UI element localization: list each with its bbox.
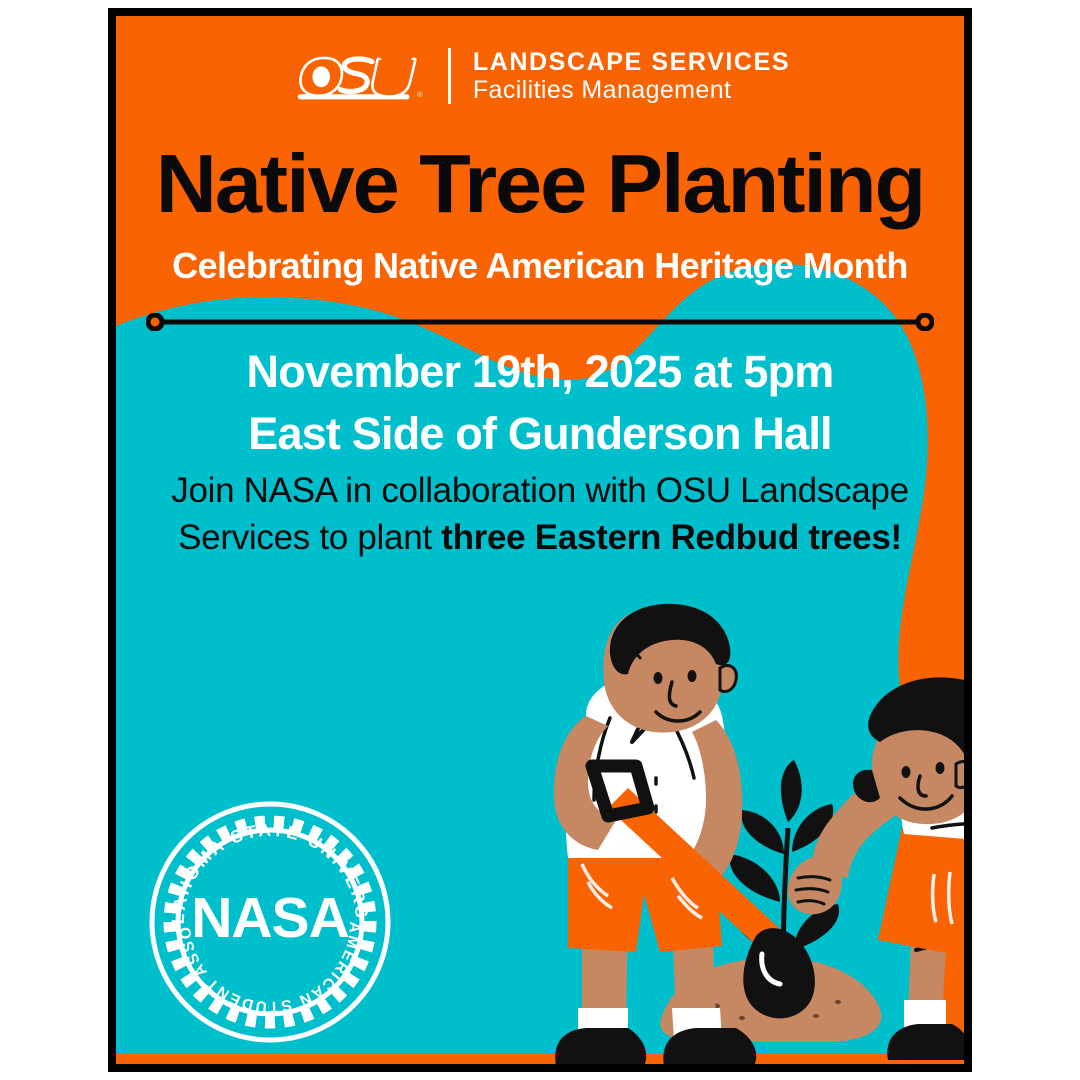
poster-body: ® LANDSCAPE SERVICES Facilities Manageme…	[116, 16, 964, 1064]
boy-right-shoe	[663, 1028, 756, 1064]
girl-ear	[956, 762, 964, 788]
seal-center-wordmark: NASA	[191, 886, 349, 950]
boy-left-shoe	[555, 1028, 646, 1064]
girl-skirt	[878, 822, 964, 956]
girl-left-shoe	[887, 1024, 964, 1060]
nasa-seal-logo: OKLAHOMA STATE UNIVERSITY NATIVE AMERICA…	[148, 800, 392, 1044]
poster-canvas: ® LANDSCAPE SERVICES Facilities Manageme…	[0, 0, 1080, 1080]
boy-ear	[720, 666, 736, 692]
